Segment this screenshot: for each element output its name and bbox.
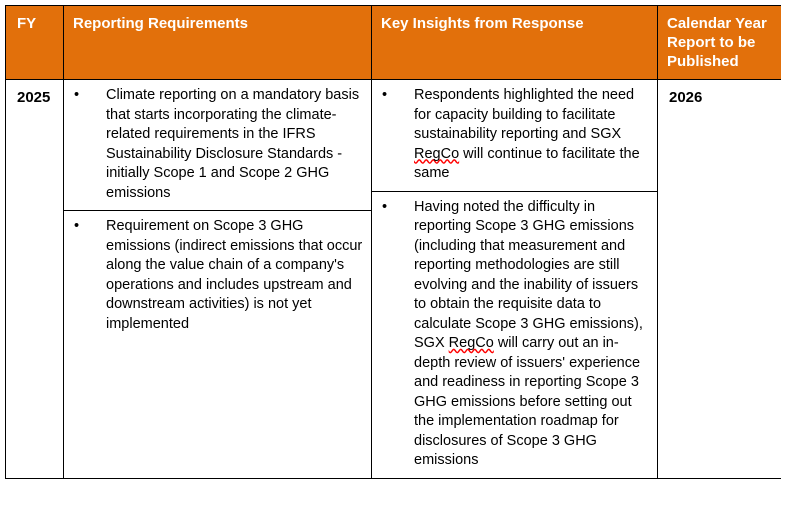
column-header-calendar-year: Calendar Year Report to be Published xyxy=(658,6,782,80)
bullet-icon: • xyxy=(382,86,387,106)
insight-list-1: •Respondents highlighted the need for ca… xyxy=(372,86,649,184)
requirement-block-1: • Climate reporting on a mandatory basis… xyxy=(64,80,371,210)
cell-fiscal-year: 2025 xyxy=(6,80,64,479)
column-header-key-insights: Key Insights from Response xyxy=(372,6,658,80)
column-header-fy: FY xyxy=(6,6,64,80)
cell-key-insights: •Respondents highlighted the need for ca… xyxy=(372,80,658,479)
table-header: FY Reporting Requirements Key Insights f… xyxy=(6,6,782,80)
list-item-text: Climate reporting on a mandatory basis t… xyxy=(106,87,359,201)
requirement-list-1: • Climate reporting on a mandatory basis… xyxy=(64,86,363,203)
cell-reporting-requirements: • Climate reporting on a mandatory basis… xyxy=(64,80,372,479)
requirement-block-2: • Requirement on Scope 3 GHG emissions (… xyxy=(64,210,371,341)
bullet-icon: • xyxy=(74,86,79,106)
bullet-icon: • xyxy=(382,198,387,218)
list-item: • Climate reporting on a mandatory basis… xyxy=(64,86,363,203)
table-row: 2025 • Climate reporting on a mandatory … xyxy=(6,80,782,479)
column-header-reporting-requirements: Reporting Requirements xyxy=(64,6,372,80)
spellcheck-misspelled-word: RegCo xyxy=(449,335,494,351)
document-page: FY Reporting Requirements Key Insights f… xyxy=(0,0,786,507)
list-item: •Having noted the difficulty in reportin… xyxy=(372,198,649,471)
list-item: •Respondents highlighted the need for ca… xyxy=(372,86,649,184)
bullet-icon: • xyxy=(74,217,79,237)
cell-calendar-year-report: 2026 xyxy=(658,80,782,479)
table-body: 2025 • Climate reporting on a mandatory … xyxy=(6,80,782,479)
spellcheck-misspelled-word: RegCo xyxy=(414,146,459,162)
table-container: FY Reporting Requirements Key Insights f… xyxy=(5,5,781,479)
list-item-text: Requirement on Scope 3 GHG emissions (in… xyxy=(106,218,362,332)
insight-block-2: •Having noted the difficulty in reportin… xyxy=(372,191,657,478)
reporting-requirements-table: FY Reporting Requirements Key Insights f… xyxy=(5,5,781,479)
requirement-list-2: • Requirement on Scope 3 GHG emissions (… xyxy=(64,217,363,334)
list-item-text-before: Having noted the difficulty in reporting… xyxy=(414,199,643,352)
insight-list-2: •Having noted the difficulty in reportin… xyxy=(372,198,649,471)
list-item: • Requirement on Scope 3 GHG emissions (… xyxy=(64,217,363,334)
list-item-text-before: Respondents highlighted the need for cap… xyxy=(414,87,634,142)
insight-block-1: •Respondents highlighted the need for ca… xyxy=(372,80,657,191)
table-header-row: FY Reporting Requirements Key Insights f… xyxy=(6,6,782,80)
list-item-text-after: will carry out an in-depth review of iss… xyxy=(414,335,640,468)
